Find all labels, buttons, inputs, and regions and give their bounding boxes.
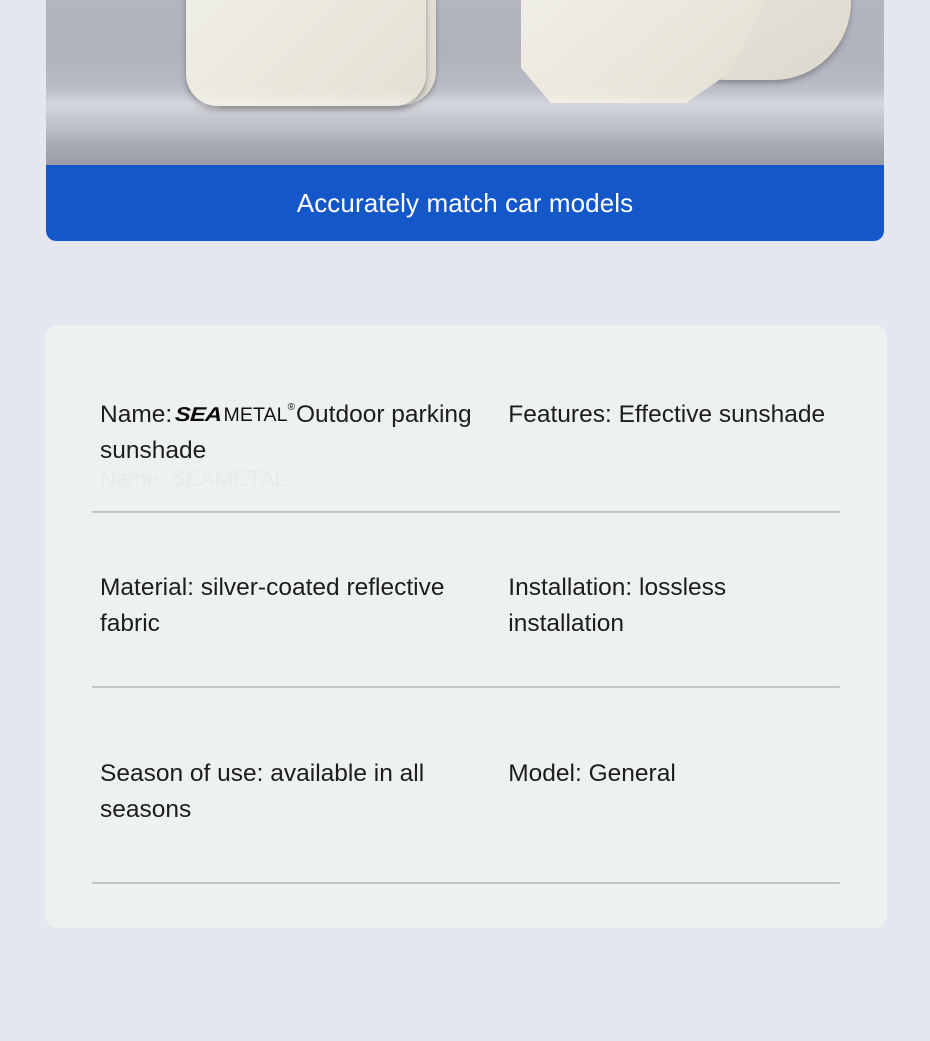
spec-installation-text: Installation: lossless installation bbox=[508, 570, 832, 641]
spec-cell-season: Season of use: available in all seasons bbox=[100, 756, 495, 827]
spec-cell-model: Model: General bbox=[495, 756, 832, 827]
spec-cell-installation: Installation: lossless installation bbox=[495, 570, 832, 641]
seametal-logo-sea: SEA bbox=[174, 401, 222, 430]
spec-divider-3 bbox=[92, 882, 840, 884]
spec-row-season: Season of use: available in all seasons … bbox=[45, 756, 887, 827]
spec-material-text: Material: silver-coated reflective fabri… bbox=[100, 570, 485, 641]
spec-features-text: Features: Effective sunshade bbox=[508, 397, 832, 433]
photo-floor-shadow bbox=[46, 129, 884, 165]
product-image-panel: Accurately match car models bbox=[46, 0, 884, 241]
spec-cell-name: Name:SEAMETAL®Outdoor parking sunshade N… bbox=[100, 397, 495, 490]
specification-card: Name:SEAMETAL®Outdoor parking sunshade N… bbox=[45, 325, 887, 928]
spec-row-material: Material: silver-coated reflective fabri… bbox=[45, 570, 887, 641]
spec-divider-2 bbox=[92, 686, 840, 688]
spec-ghost-text: Name: SEAMETAL bbox=[100, 468, 485, 490]
photo-highlight-band bbox=[46, 91, 884, 117]
spec-row-name: Name:SEAMETAL®Outdoor parking sunshade N… bbox=[45, 397, 887, 490]
spec-name-text: Name:SEAMETAL®Outdoor parking sunshade bbox=[100, 397, 485, 468]
spec-divider-1 bbox=[92, 511, 840, 513]
spec-name-label: Name: bbox=[100, 401, 172, 428]
registered-trademark-icon: ® bbox=[288, 402, 295, 413]
product-photo bbox=[46, 0, 884, 165]
caption-banner: Accurately match car models bbox=[46, 165, 884, 241]
spec-model-text: Model: General bbox=[508, 756, 832, 792]
spec-season-text: Season of use: available in all seasons bbox=[100, 756, 485, 827]
spec-cell-material: Material: silver-coated reflective fabri… bbox=[100, 570, 495, 641]
seametal-logo-metal: METAL bbox=[224, 404, 288, 426]
caption-banner-text: Accurately match car models bbox=[297, 190, 634, 216]
spec-cell-features: Features: Effective sunshade bbox=[495, 397, 832, 490]
